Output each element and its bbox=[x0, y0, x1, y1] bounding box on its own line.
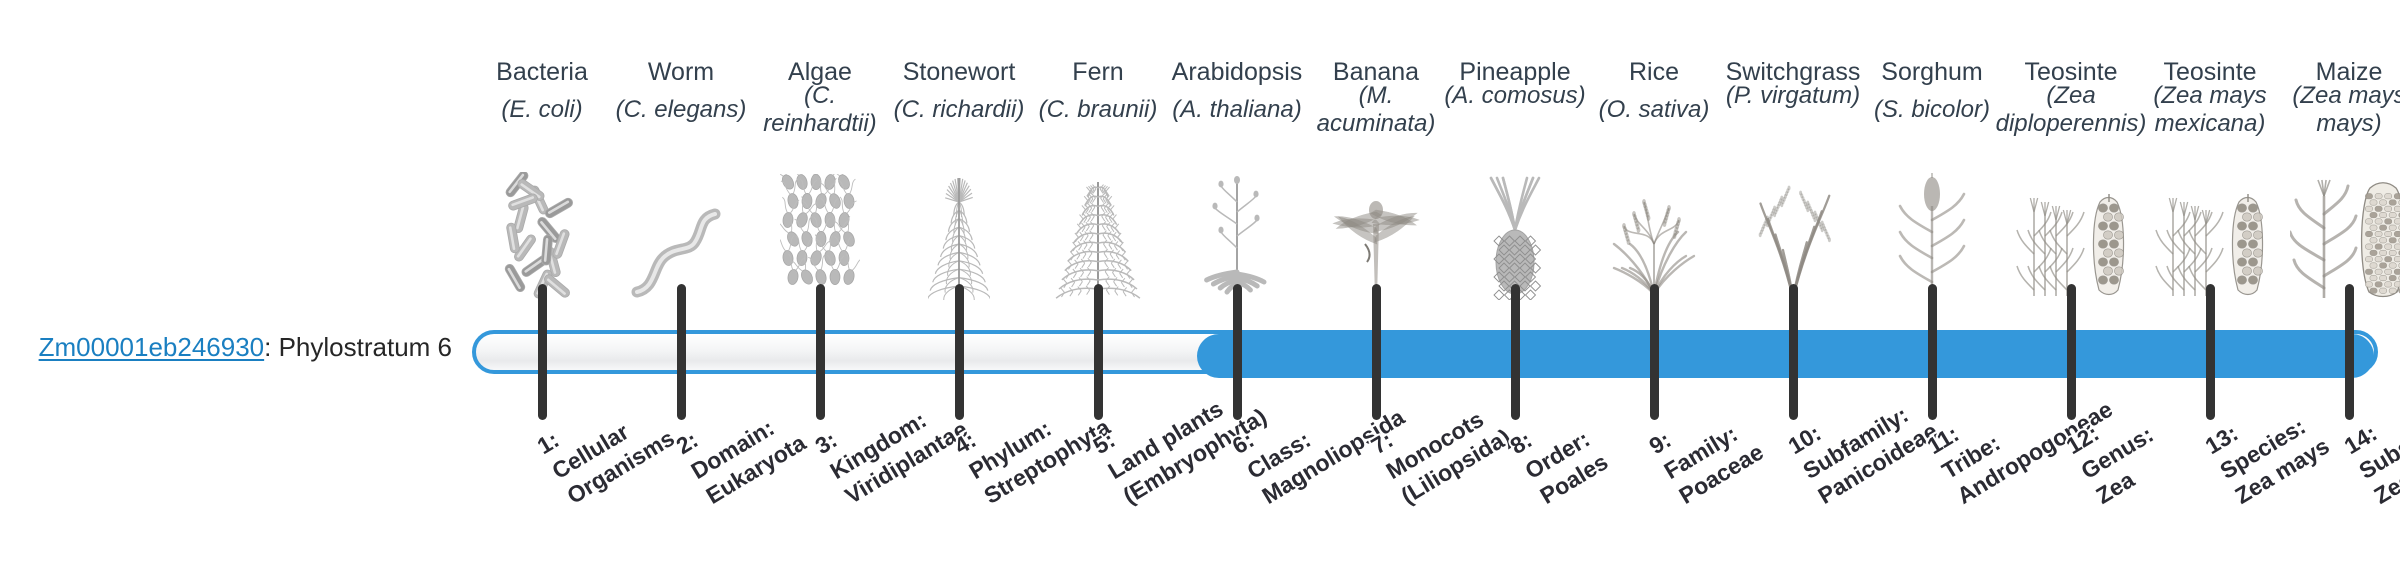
species-latin-name: (Zea diploperennis) bbox=[1995, 82, 2147, 138]
species-latin-name: (C. elegans) bbox=[605, 96, 757, 124]
bar-track bbox=[472, 330, 2378, 374]
species-latin-name: (A. thaliana) bbox=[1161, 96, 1313, 124]
rank-tick[interactable] bbox=[677, 284, 686, 420]
rank-tick[interactable] bbox=[2206, 284, 2215, 420]
phylostratum-bar[interactable] bbox=[452, 330, 2400, 374]
fern-frond-icon bbox=[1026, 168, 1170, 300]
stonewort-plant-icon bbox=[887, 168, 1031, 300]
rank-tick[interactable] bbox=[2067, 284, 2076, 420]
rank-tick[interactable] bbox=[816, 284, 825, 420]
bacteria-rods-icon bbox=[470, 168, 614, 300]
species-latin-name: (O. sativa) bbox=[1578, 96, 1730, 124]
gene-label-separator: : bbox=[264, 332, 278, 362]
sorghum-plant-icon bbox=[1860, 168, 2004, 300]
species-latin-name: (Zea mays mexicana) bbox=[2134, 82, 2286, 138]
rank-tick[interactable] bbox=[1233, 284, 1242, 420]
rank-tick[interactable] bbox=[955, 284, 964, 420]
gene-id-link[interactable]: Zm00001eb246930 bbox=[39, 332, 265, 362]
rank-tick[interactable] bbox=[1094, 284, 1103, 420]
species-common-name: Sorghum bbox=[1860, 58, 2004, 86]
species-latin-name: (S. bicolor) bbox=[1856, 96, 2008, 124]
species-common-name: Rice bbox=[1582, 58, 1726, 86]
species-common-name: Worm bbox=[609, 58, 753, 86]
species-latin-name: (P. virgatum) bbox=[1717, 82, 1869, 110]
species-common-name: Stonewort bbox=[887, 58, 1031, 86]
pineapple-fruit-icon bbox=[1443, 168, 1587, 300]
rank-tick[interactable] bbox=[1789, 284, 1798, 420]
algae-cells-icon bbox=[748, 168, 892, 300]
rank-tick[interactable] bbox=[2345, 284, 2354, 420]
species-latin-name: (M. acuminata) bbox=[1300, 82, 1452, 138]
gene-phylostratum-label: Zm00001eb246930: Phylostratum 6 bbox=[0, 332, 452, 362]
rank-tick[interactable] bbox=[1511, 284, 1520, 420]
maize-plant-cob-icon bbox=[2277, 168, 2400, 300]
phylostratum-text: Phylostratum 6 bbox=[279, 332, 452, 362]
species-latin-name: (E. coli) bbox=[466, 96, 618, 124]
banana-tree-icon bbox=[1304, 168, 1448, 300]
species-latin-name: (Zea mays mays) bbox=[2273, 82, 2400, 138]
nematode-worm-icon bbox=[609, 168, 753, 300]
switchgrass-plant-icon bbox=[1721, 168, 1865, 300]
arabidopsis-plant-icon bbox=[1165, 168, 1309, 300]
phylostratum-figure: Zm00001eb246930: Phylostratum 6 Bacteria… bbox=[0, 0, 2400, 580]
species-columns: Bacteria(E. coli) bbox=[452, 0, 2400, 580]
rank-tick[interactable] bbox=[1372, 284, 1381, 420]
species-latin-name: (C. reinhardtii) bbox=[744, 82, 896, 138]
species-latin-name: (C. braunii) bbox=[1022, 96, 1174, 124]
rank-tick[interactable] bbox=[538, 284, 547, 420]
species-common-name: Bacteria bbox=[470, 58, 614, 86]
species-latin-name: (A. comosus) bbox=[1439, 82, 1591, 110]
rank-tick[interactable] bbox=[1928, 284, 1937, 420]
rice-plant-icon bbox=[1582, 168, 1726, 300]
species-common-name: Fern bbox=[1026, 58, 1170, 86]
species-latin-name: (C. richardii) bbox=[883, 96, 1035, 124]
teosinte-plant-ear-icon bbox=[1999, 168, 2143, 300]
teosinte-plant-ear-icon bbox=[2138, 168, 2282, 300]
species-column: Maize(Zea mays mays) bbox=[2277, 0, 2400, 580]
rank-tick[interactable] bbox=[1650, 284, 1659, 420]
species-common-name: Arabidopsis bbox=[1165, 58, 1309, 86]
